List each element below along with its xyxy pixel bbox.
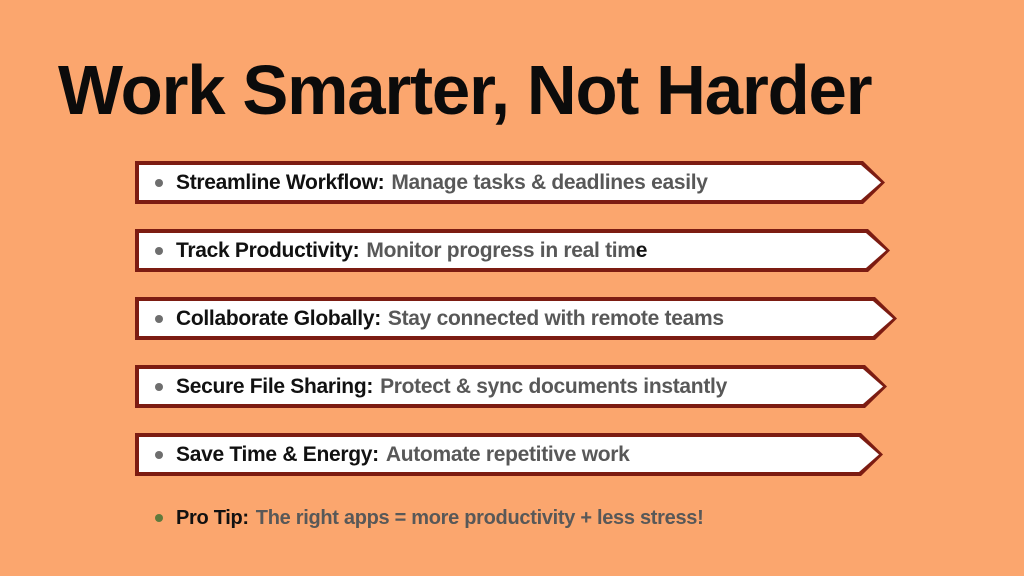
bullet-dot-icon bbox=[155, 247, 163, 255]
bullet-dot-green-icon bbox=[155, 514, 163, 522]
banner-row: Streamline Workflow: Manage tasks & dead… bbox=[135, 161, 935, 204]
banner-description-tail: e bbox=[636, 239, 647, 262]
banner-content: Track Productivity: Monitor progress in … bbox=[155, 229, 647, 272]
banner-description: Monitor progress in real time bbox=[366, 239, 647, 263]
feature-banner-list: Streamline Workflow: Manage tasks & dead… bbox=[135, 161, 935, 501]
bullet-dot-icon bbox=[155, 315, 163, 323]
banner-content: Secure File Sharing: Protect & sync docu… bbox=[155, 365, 727, 408]
page-title: Work Smarter, Not Harder bbox=[58, 52, 954, 128]
slide-canvas: Work Smarter, Not Harder Streamline Work… bbox=[0, 0, 1024, 576]
banner-row: Track Productivity: Monitor progress in … bbox=[135, 229, 935, 272]
banner-content: Save Time & Energy: Automate repetitive … bbox=[155, 433, 630, 476]
banner-label: Secure File Sharing: bbox=[176, 375, 373, 399]
banner-row: Secure File Sharing: Protect & sync docu… bbox=[135, 365, 935, 408]
banner-description: Stay connected with remote teams bbox=[388, 307, 724, 331]
pro-tip-label: Pro Tip: bbox=[176, 507, 249, 530]
banner-label: Save Time & Energy: bbox=[176, 443, 379, 467]
pro-tip-description: The right apps = more productivity + les… bbox=[256, 507, 704, 530]
banner-label: Collaborate Globally: bbox=[176, 307, 381, 331]
bullet-dot-icon bbox=[155, 451, 163, 459]
banner-label: Track Productivity: bbox=[176, 239, 359, 263]
pro-tip-line: Pro Tip: The right apps = more productiv… bbox=[155, 503, 703, 533]
banner-description: Manage tasks & deadlines easily bbox=[391, 171, 707, 195]
banner-description: Protect & sync documents instantly bbox=[380, 375, 727, 399]
banner-content: Streamline Workflow: Manage tasks & dead… bbox=[155, 161, 708, 204]
bullet-dot-icon bbox=[155, 179, 163, 187]
banner-content: Collaborate Globally: Stay connected wit… bbox=[155, 297, 724, 340]
banner-label: Streamline Workflow: bbox=[176, 171, 384, 195]
banner-description: Automate repetitive work bbox=[386, 443, 630, 467]
banner-row: Collaborate Globally: Stay connected wit… bbox=[135, 297, 935, 340]
bullet-dot-icon bbox=[155, 383, 163, 391]
banner-row: Save Time & Energy: Automate repetitive … bbox=[135, 433, 935, 476]
